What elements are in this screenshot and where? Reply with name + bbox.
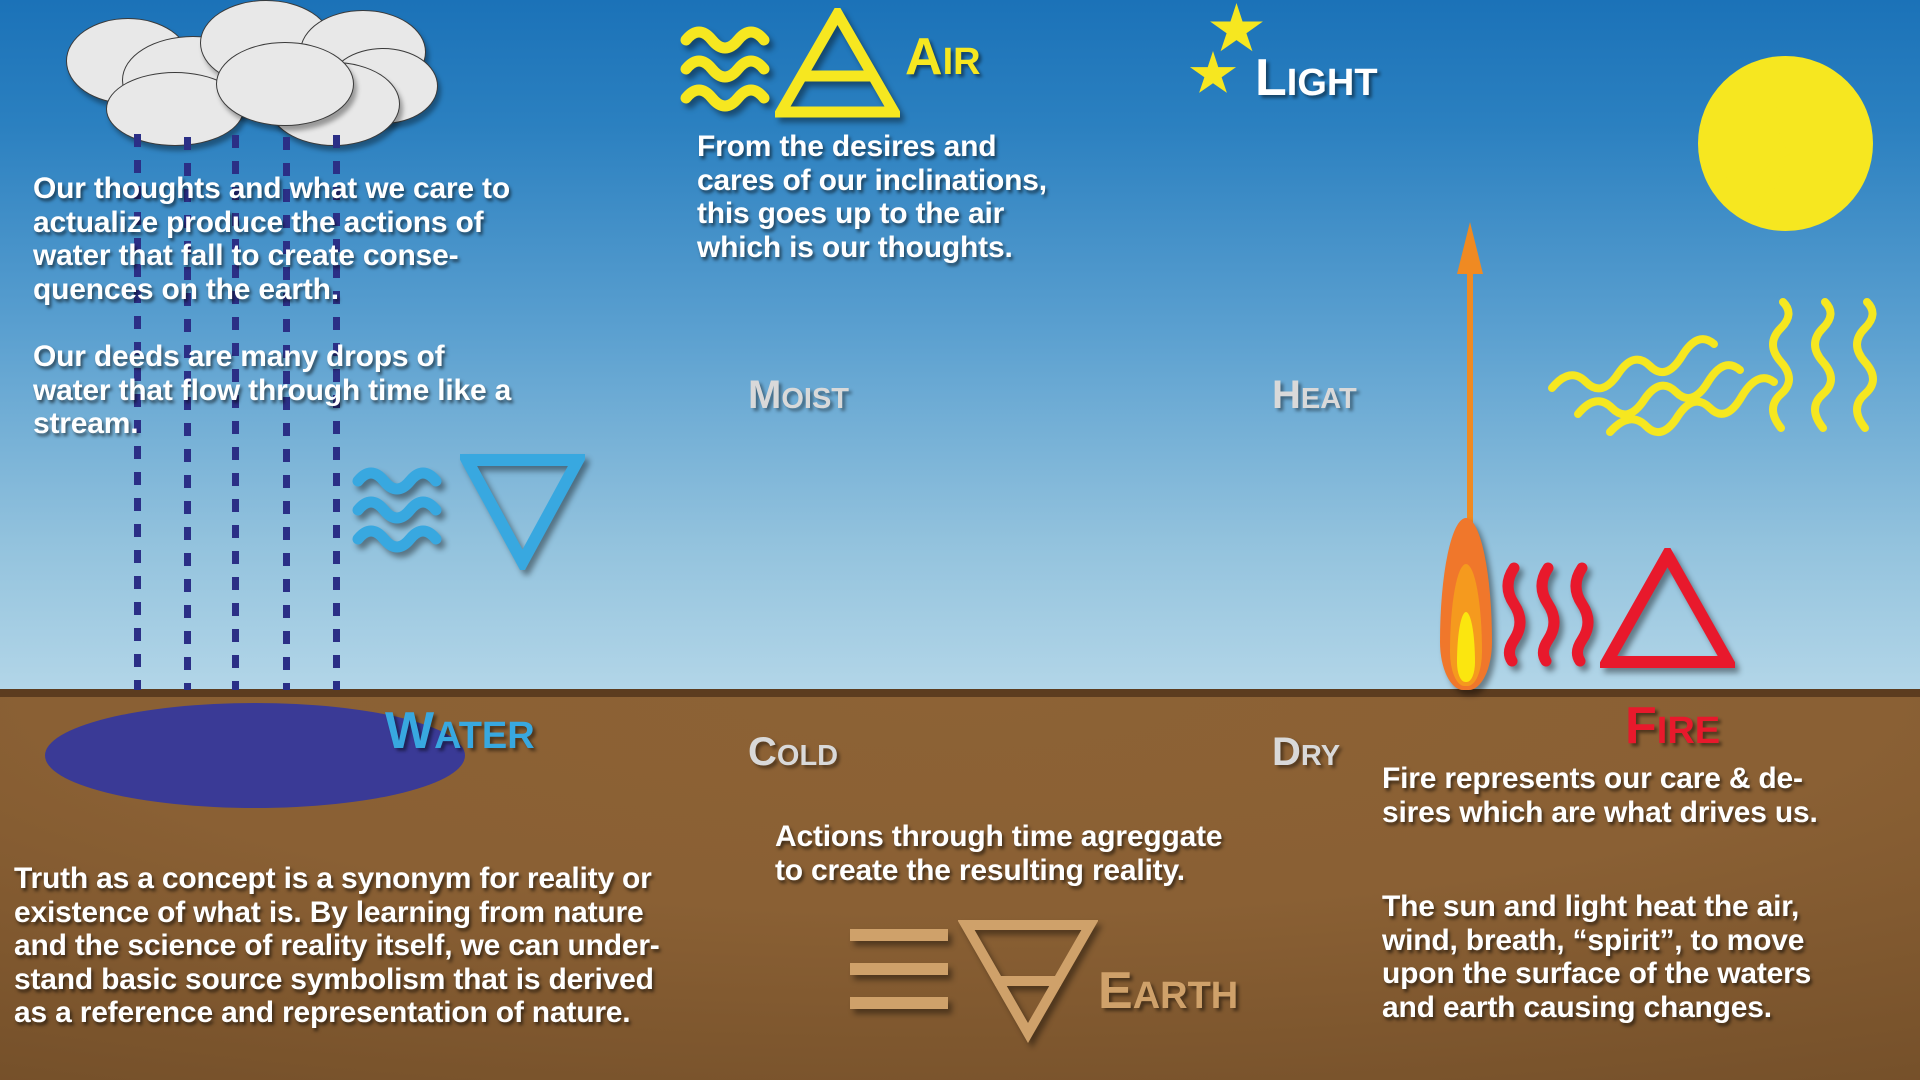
quality-dry: DRY xyxy=(1272,732,1340,772)
air-triangle-icon xyxy=(775,8,900,120)
quality-moist-rest: OIST xyxy=(781,383,849,415)
quality-dry-initial: D xyxy=(1272,730,1301,774)
air-label: AIR xyxy=(905,31,981,83)
arrow-shaft xyxy=(1467,268,1473,542)
arrow-head xyxy=(1457,222,1483,274)
air-wave-icon xyxy=(680,22,784,112)
fire-label: FIRE xyxy=(1625,700,1720,752)
water-triangle-icon xyxy=(460,450,585,570)
water-wave-icon xyxy=(352,463,456,553)
cloud-icon xyxy=(60,0,440,126)
light-label: LIGHT xyxy=(1255,52,1378,104)
fire-label-initial: F xyxy=(1625,697,1657,755)
quality-moist-initial: M xyxy=(748,373,781,417)
earth-label-initial: E xyxy=(1098,962,1133,1020)
water-label: WATER xyxy=(385,705,535,757)
fire-triangle-icon xyxy=(1600,548,1735,670)
water-label-initial: W xyxy=(385,702,434,760)
water-paragraph-2: Our deeds are many drops of water that f… xyxy=(33,340,593,441)
light-label-rest: IGHT xyxy=(1287,62,1378,104)
flame-icon xyxy=(1436,518,1496,690)
diagram-canvas: Our thoughts and what we care to actuali… xyxy=(0,0,1920,1080)
air-label-rest: IR xyxy=(943,41,981,83)
quality-moist: MOIST xyxy=(748,375,849,415)
quality-cold-rest: OLD xyxy=(777,740,838,772)
earth-paragraph: Actions through time agreggate to create… xyxy=(775,820,1335,887)
heat-squiggle-icon xyxy=(1500,562,1610,667)
earth-label: EARTH xyxy=(1098,965,1238,1017)
quality-dry-rest: RY xyxy=(1301,740,1340,772)
fire-paragraph-2: The sun and light heat the air, wind, br… xyxy=(1382,890,1920,1024)
air-paragraph: From the desires and cares of our inclin… xyxy=(697,130,1127,264)
water-paragraph-1: Our thoughts and what we care to actuali… xyxy=(33,172,593,306)
air-label-initial: A xyxy=(905,28,943,86)
quality-cold: COLD xyxy=(748,732,838,772)
light-rays-icon xyxy=(1540,218,1920,438)
light-label-initial: L xyxy=(1255,49,1287,107)
horizon-line xyxy=(0,689,1920,697)
quality-heat-rest: EAT xyxy=(1301,383,1357,415)
fire-label-rest: IRE xyxy=(1657,710,1720,752)
quality-heat-initial: H xyxy=(1272,373,1301,417)
water-label-rest: ATER xyxy=(434,715,535,757)
earth-triangle-icon xyxy=(958,915,1098,1043)
earth-label-rest: ARTH xyxy=(1133,975,1239,1017)
fire-paragraph-1: Fire represents our care & de- sires whi… xyxy=(1382,762,1920,829)
heat-arrow-icon xyxy=(1455,222,1485,542)
truth-paragraph: Truth as a concept is a synonym for real… xyxy=(14,862,804,1030)
earth-lines-icon xyxy=(845,925,953,1013)
quality-cold-initial: C xyxy=(748,730,777,774)
quality-heat: HEAT xyxy=(1272,375,1357,415)
